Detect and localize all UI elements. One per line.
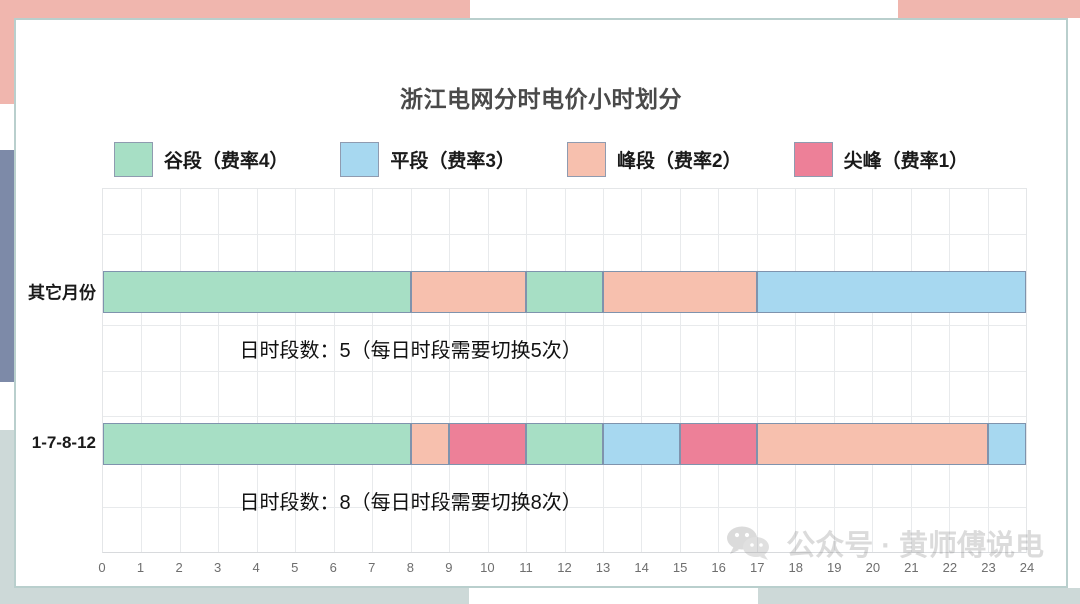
bar-segment[interactable] <box>603 423 680 465</box>
plot-grid: 日时段数：5（每日时段需要切换5次）日时段数：8（每日时段需要切换8次） <box>102 188 1027 553</box>
x-axis-tick-label: 22 <box>943 560 957 575</box>
legend-swatch <box>340 142 379 177</box>
bar-segment[interactable] <box>757 271 1026 313</box>
x-axis-tick-label: 8 <box>407 560 414 575</box>
x-axis-tick-label: 13 <box>596 560 610 575</box>
bar-row <box>103 271 1026 313</box>
grid-line-horizontal <box>103 234 1026 235</box>
chart-annotation: 日时段数：8（每日时段需要切换8次） <box>240 486 582 515</box>
x-axis-tick-label: 12 <box>557 560 571 575</box>
bar-segment[interactable] <box>680 423 757 465</box>
decor-band-bottom-right <box>758 588 1080 604</box>
bar-segment[interactable] <box>526 423 603 465</box>
bar-segment[interactable] <box>988 423 1026 465</box>
bar-segment[interactable] <box>603 271 757 313</box>
x-axis-tick-label: 17 <box>750 560 764 575</box>
grid-line-horizontal <box>103 325 1026 326</box>
x-axis-tick-label: 10 <box>480 560 494 575</box>
decor-band-top-right <box>898 0 1080 18</box>
legend-label: 平段（费率3） <box>390 146 515 173</box>
x-axis-tick-label: 7 <box>368 560 375 575</box>
grid-line-horizontal <box>103 416 1026 417</box>
x-axis-tick-label: 1 <box>137 560 144 575</box>
y-axis-tick-label: 其它月份 <box>28 279 96 304</box>
decor-block-left-pink <box>0 0 14 104</box>
bar-segment[interactable] <box>526 271 603 313</box>
decor-band-top-left <box>0 0 470 18</box>
decor-block-left-teal <box>0 430 14 604</box>
decor-band-bottom-left <box>14 588 469 604</box>
plot-area: 其它月份1-7-8-12 日时段数：5（每日时段需要切换5次）日时段数：8（每日… <box>16 188 1066 580</box>
chart-annotation: 日时段数：5（每日时段需要切换5次） <box>240 334 582 363</box>
x-axis-tick-label: 2 <box>175 560 182 575</box>
chart-legend: 谷段（费率4）平段（费率3）峰段（费率2）尖峰（费率1） <box>16 142 1066 177</box>
x-axis-tick-label: 24 <box>1020 560 1034 575</box>
legend-label: 谷段（费率4） <box>164 146 289 173</box>
x-axis-tick-label: 19 <box>827 560 841 575</box>
y-axis-tick-label: 1-7-8-12 <box>32 433 96 453</box>
x-axis-tick-label: 18 <box>789 560 803 575</box>
legend-label: 峰段（费率2） <box>617 146 742 173</box>
x-axis-tick-label: 14 <box>634 560 648 575</box>
bar-segment[interactable] <box>449 423 526 465</box>
slide-canvas: 浙江电网分时电价小时划分 谷段（费率4）平段（费率3）峰段（费率2）尖峰（费率1… <box>0 0 1080 604</box>
decor-block-left-blue <box>0 150 14 382</box>
legend-swatch <box>567 142 606 177</box>
x-axis-tick-label: 6 <box>330 560 337 575</box>
legend-item[interactable]: 谷段（费率4） <box>114 142 289 177</box>
x-axis-tick-label: 23 <box>981 560 995 575</box>
x-axis-labels: 0123456789101112131415161718192021222324 <box>102 554 1027 582</box>
x-axis-tick-label: 3 <box>214 560 221 575</box>
chart-title: 浙江电网分时电价小时划分 <box>16 80 1066 114</box>
bar-segment[interactable] <box>411 423 449 465</box>
x-axis-tick-label: 20 <box>866 560 880 575</box>
x-axis-tick-label: 15 <box>673 560 687 575</box>
legend-label: 尖峰（费率1） <box>844 146 969 173</box>
legend-item[interactable]: 峰段（费率2） <box>567 142 742 177</box>
legend-item[interactable]: 平段（费率3） <box>340 142 515 177</box>
legend-swatch <box>794 142 833 177</box>
legend-item[interactable]: 尖峰（费率1） <box>794 142 969 177</box>
bar-row <box>103 423 1026 465</box>
bar-segment[interactable] <box>757 423 988 465</box>
y-axis-labels: 其它月份1-7-8-12 <box>16 188 102 580</box>
chart-card: 浙江电网分时电价小时划分 谷段（费率4）平段（费率3）峰段（费率2）尖峰（费率1… <box>14 18 1068 588</box>
bar-segment[interactable] <box>103 423 411 465</box>
bar-segment[interactable] <box>103 271 411 313</box>
x-axis-tick-label: 4 <box>253 560 260 575</box>
legend-swatch <box>114 142 153 177</box>
x-axis-tick-label: 5 <box>291 560 298 575</box>
x-axis-tick-label: 0 <box>98 560 105 575</box>
x-axis-tick-label: 9 <box>445 560 452 575</box>
x-axis-tick-label: 11 <box>519 560 533 575</box>
bar-segment[interactable] <box>411 271 526 313</box>
x-axis-tick-label: 16 <box>711 560 725 575</box>
x-axis-tick-label: 21 <box>904 560 918 575</box>
grid-line-horizontal <box>103 371 1026 372</box>
